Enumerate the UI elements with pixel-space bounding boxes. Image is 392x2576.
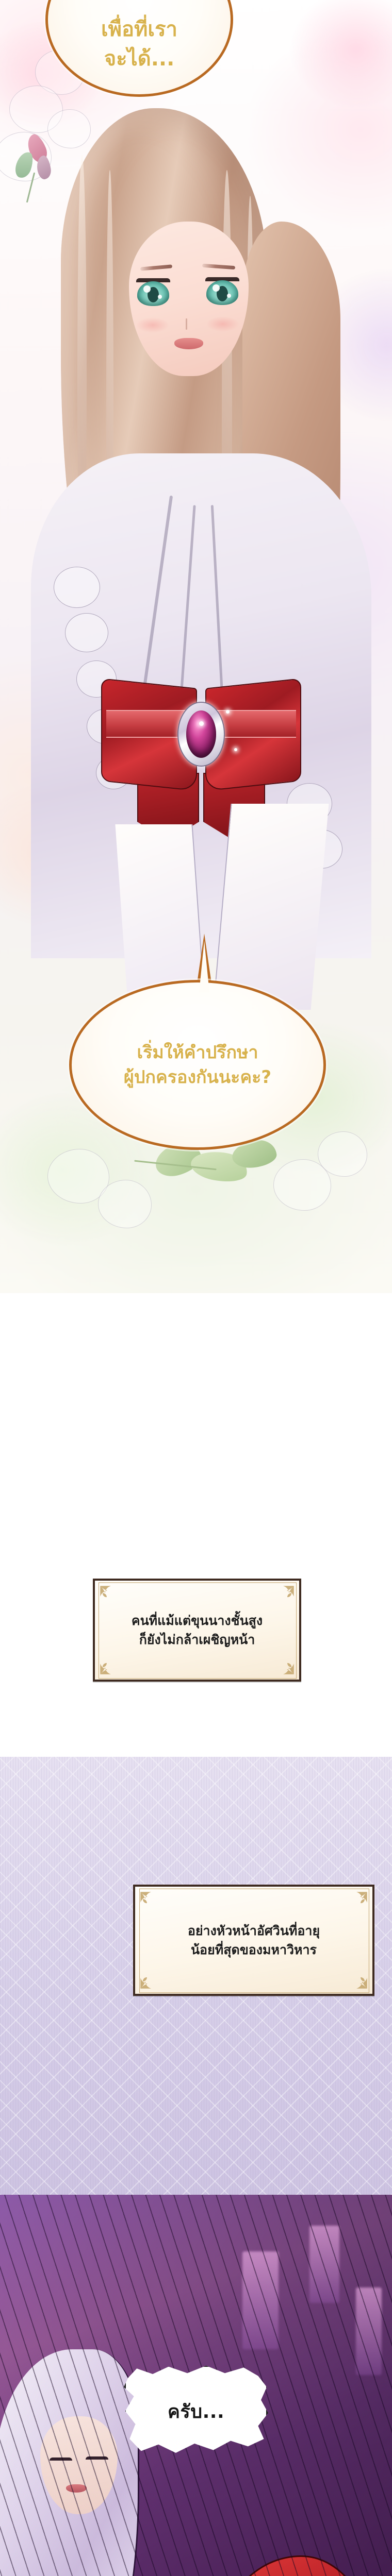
panel-heroine-portrait: เพื่อที่เรา จะได้... เริ่มให้คำปรึกษา ผู…	[0, 0, 392, 1293]
outline-flower	[318, 1131, 367, 1177]
panel-narration-lavender: อย่างหัวหน้าอัศวินที่อายุ น้อยที่สุดของม…	[0, 1757, 392, 2195]
ornament-corner-icon	[345, 1891, 368, 1914]
narration-box-1-text: คนที่แม้แต่ขุนนางชั้นสูง ก็ยังไม่กล้าเผช…	[132, 1611, 263, 1649]
speech-bubble-2-text: เริ่มให้คำปรึกษา ผู้ปกครองกันนะคะ?	[124, 1040, 271, 1090]
panel-narration-white: คนที่แม้แต่ขุนนางชั้นสูง ก็ยังไม่กล้าเผช…	[0, 1499, 392, 1757]
lace-frill	[65, 613, 108, 652]
collar-panel	[213, 804, 329, 1010]
narration-box-1: คนที่แม้แต่ขุนนางชั้นสูง ก็ยังไม่กล้าเผช…	[93, 1579, 301, 1682]
background-blossom	[289, 0, 392, 108]
panel-dark-scene: ครับ... และองค์จักรพรรดิ แห่งจักรวรรดิ	[0, 2195, 392, 2576]
sparkle	[226, 710, 230, 714]
ornament-corner-icon	[99, 1585, 123, 1608]
speech-bubble-1-text: เพื่อที่เรา จะได้...	[101, 0, 177, 74]
eyebrow-left	[140, 264, 172, 270]
webtoon-page: เพื่อที่เรา จะได้... เริ่มให้คำปรึกษา ผู…	[0, 0, 392, 2576]
lace-frill	[54, 567, 100, 608]
eyebrow-right	[202, 264, 235, 269]
speech-bubble-3: ครับ...	[124, 2365, 268, 2458]
magenta-gem	[186, 710, 216, 758]
speech-bubble-2-tail-fill	[199, 941, 209, 992]
ornament-corner-icon	[139, 1966, 163, 1990]
blush-left	[136, 317, 169, 333]
speech-bubble-3-text: ครับ...	[168, 2397, 224, 2426]
blush-right	[206, 316, 239, 332]
ornament-corner-icon	[139, 1891, 163, 1914]
panel-gap-white	[0, 1293, 392, 1499]
outline-flower	[47, 109, 91, 148]
speech-bubble-2: เริ่มให้คำปรึกษา ผู้ปกครองกันนะคะ?	[69, 980, 326, 1150]
ornament-corner-icon	[345, 1966, 368, 1990]
nose	[186, 318, 187, 330]
narration-box-2: อย่างหัวหน้าอัศวินที่อายุ น้อยที่สุดของม…	[133, 1885, 374, 1996]
lips	[174, 338, 203, 349]
ornament-corner-icon	[271, 1585, 295, 1608]
gem-brooch	[177, 702, 225, 767]
sparkle	[234, 748, 237, 751]
ornament-corner-icon	[271, 1652, 295, 1675]
narration-box-2-text: อย่างหัวหน้าอัศวินที่อายุ น้อยที่สุดของม…	[188, 1921, 320, 1959]
sparkle	[199, 721, 204, 726]
ornament-corner-icon	[99, 1652, 123, 1675]
outline-flower	[98, 1180, 152, 1228]
